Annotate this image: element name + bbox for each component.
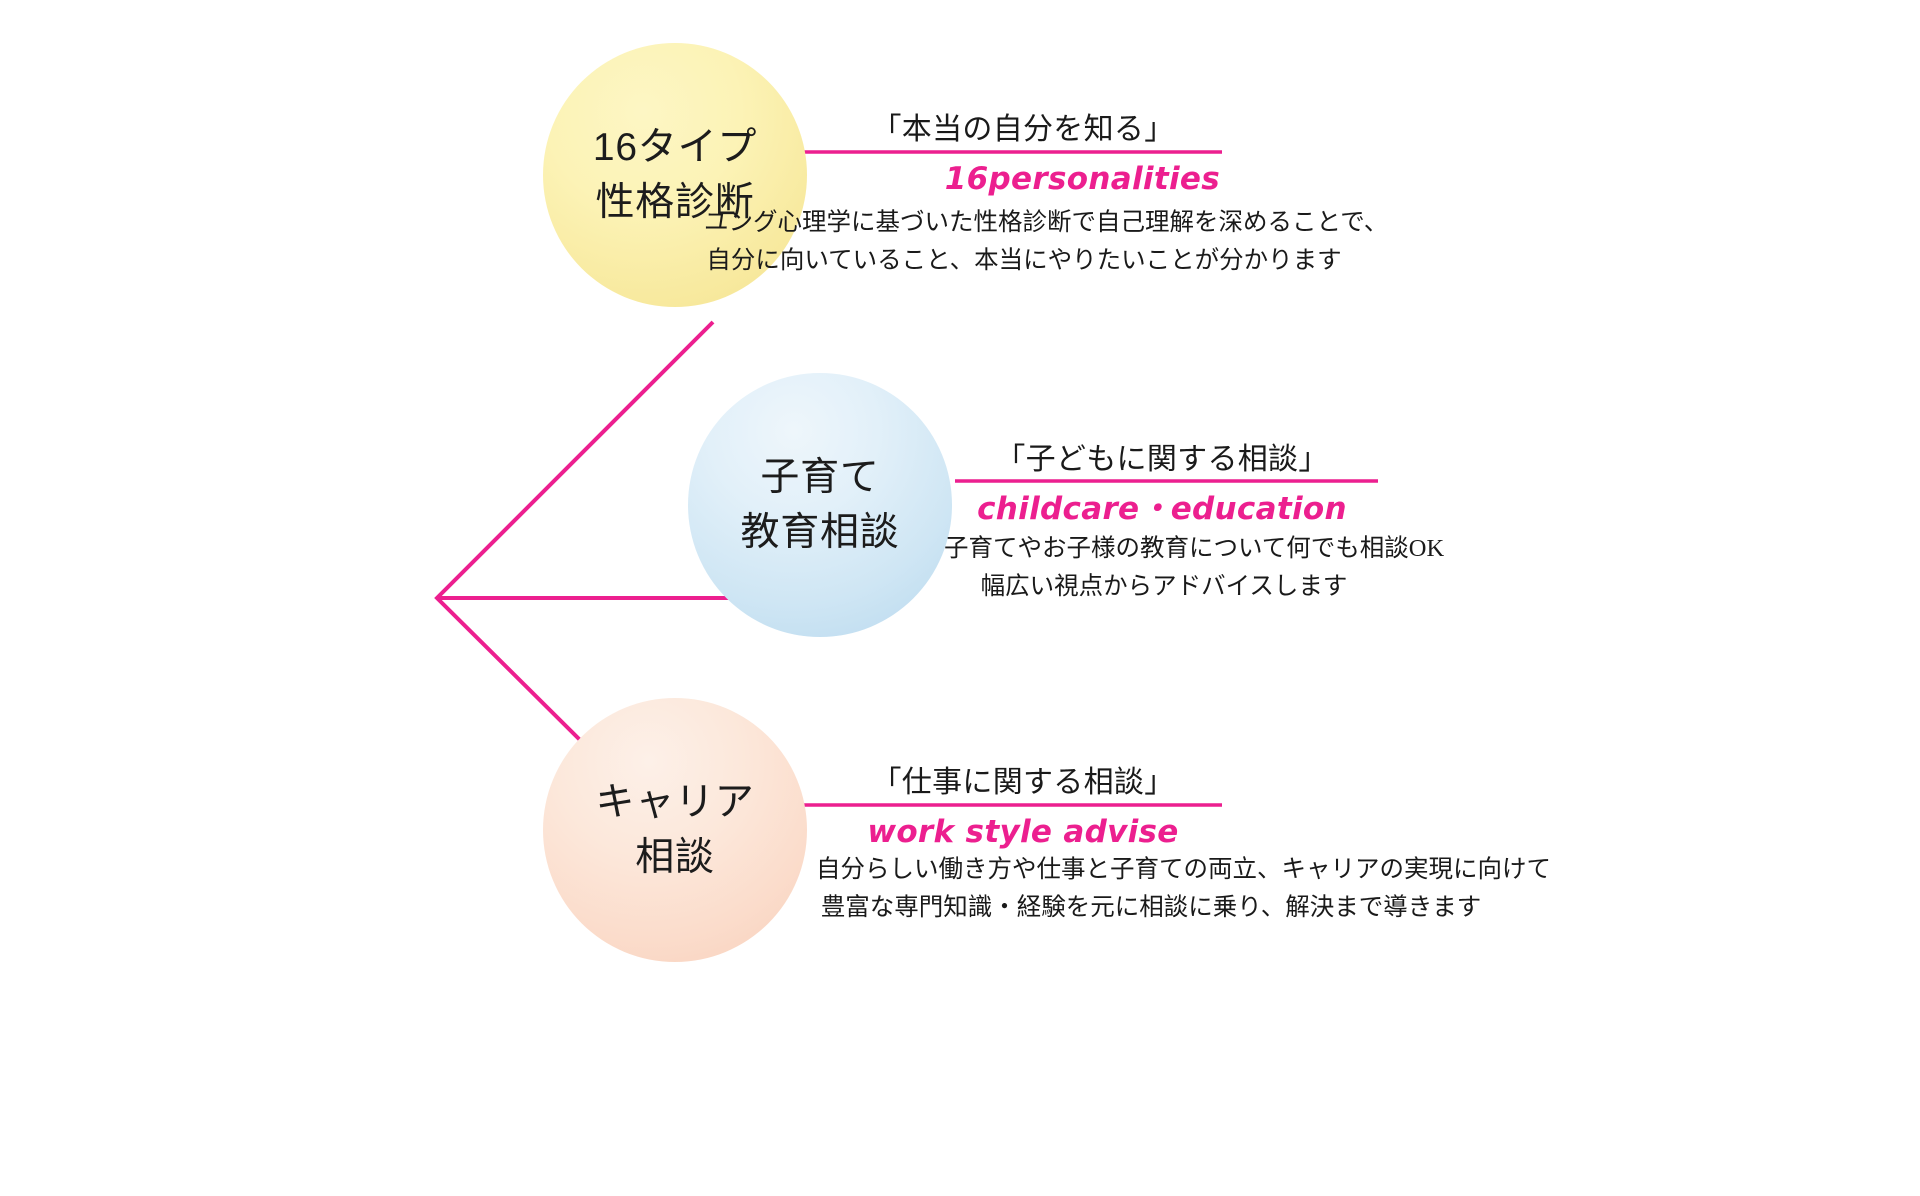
description-line: ユング心理学に基づいた性格診断で自己理解を深めることで、	[704, 204, 1344, 242]
info-heading: 「仕事に関する相談」	[826, 757, 1220, 807]
info-heading: 「本当の自分を知る」	[826, 104, 1220, 154]
diagram-canvas: 16タイプ 性格診断 「本当の自分を知る」 16personalities ユン…	[0, 0, 1920, 1196]
node-circle-career[interactable]: キャリア 相談	[543, 698, 807, 962]
info-block-personality: 「本当の自分を知る」 16personalities ユング心理学に基づいた性格…	[826, 104, 1220, 280]
description-line: 豊富な専門知識・経験を元に相談に乗り、解決まで導きます	[816, 889, 1486, 927]
info-block-childcare: 「子どもに関する相談」 childcare・education 子育てやお子様の…	[962, 434, 1362, 606]
circle-line: 相談	[635, 830, 715, 885]
circle-line: キャリア	[595, 775, 754, 830]
info-heading: 「子どもに関する相談」	[962, 434, 1362, 484]
circle-line: 教育相談	[740, 505, 899, 560]
circle-line: 子育て	[760, 450, 879, 505]
info-description: ユング心理学に基づいた性格診断で自己理解を深めることで、 自分に向いていること、…	[704, 198, 1344, 280]
info-subtitle: childcare・education	[962, 487, 1362, 528]
info-block-career: 「仕事に関する相談」 work style advise 自分らしい働き方や仕事…	[826, 757, 1220, 927]
description-line: 幅広い視点からアドバイスします	[944, 568, 1384, 606]
description-line: 自分に向いていること、本当にやりたいことが分かります	[704, 242, 1344, 280]
info-subtitle: 16personalities	[826, 157, 1220, 198]
description-line: 自分らしい働き方や仕事と子育ての両立、キャリアの実現に向けて	[816, 851, 1486, 889]
info-description: 自分らしい働き方や仕事と子育ての両立、キャリアの実現に向けて 豊富な専門知識・経…	[816, 851, 1486, 927]
circle-line: 16タイプ	[593, 120, 757, 175]
description-line: 子育てやお子様の教育について何でも相談OK	[944, 530, 1384, 568]
info-description: 子育てやお子様の教育について何でも相談OK 幅広い視点からアドバイスします	[944, 528, 1384, 606]
node-circle-childcare[interactable]: 子育て 教育相談	[688, 373, 952, 637]
info-subtitle: work style advise	[826, 810, 1220, 851]
